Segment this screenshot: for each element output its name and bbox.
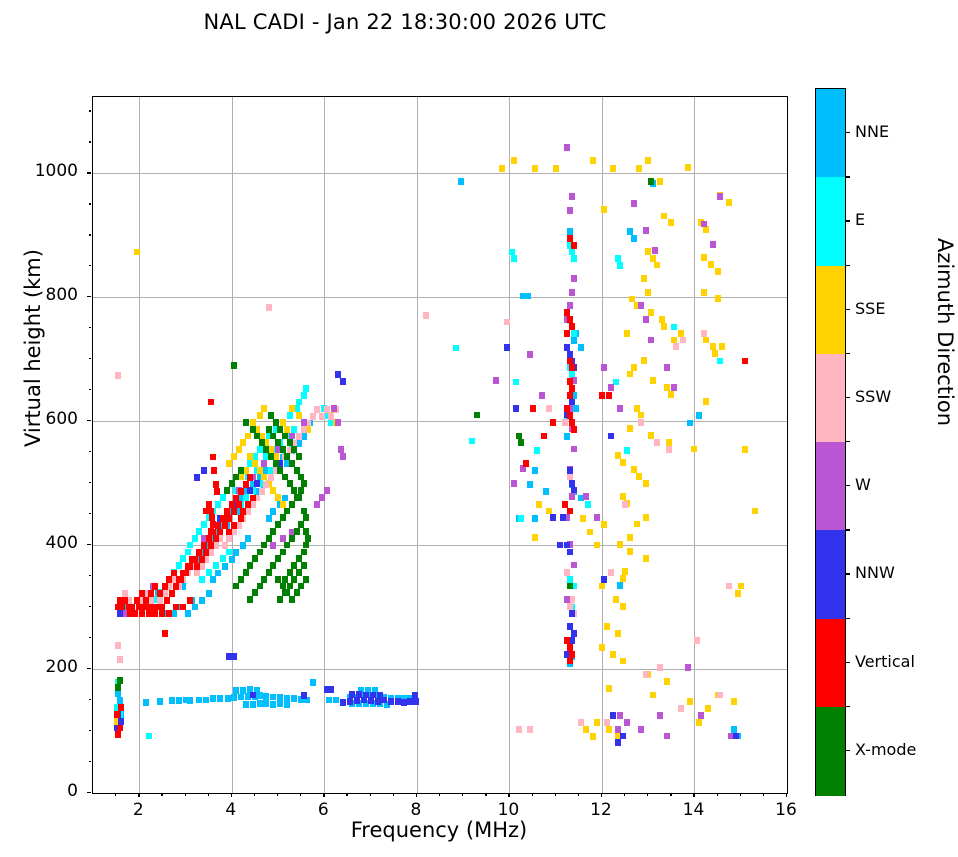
echo-marker-nnw bbox=[340, 699, 346, 706]
echo-marker-e bbox=[215, 501, 221, 508]
echo-marker-ssw bbox=[268, 474, 274, 481]
echo-marker-nnw bbox=[340, 378, 346, 385]
echo-marker-w bbox=[643, 227, 649, 234]
echo-marker-nne bbox=[233, 687, 239, 694]
echo-marker-sse bbox=[708, 261, 714, 268]
x-tick bbox=[508, 793, 509, 797]
y-tick bbox=[87, 296, 91, 297]
echo-marker-x-mode bbox=[247, 596, 253, 603]
echo-marker-sse bbox=[624, 330, 630, 337]
echo-marker-nnw bbox=[377, 692, 383, 699]
echo-marker-sse bbox=[590, 157, 596, 164]
echo-marker-nne bbox=[250, 701, 256, 708]
echo-marker-ssw bbox=[622, 501, 628, 508]
echo-marker-vertical bbox=[569, 323, 575, 330]
echo-marker-ssw bbox=[266, 304, 272, 311]
echo-marker-x-mode bbox=[294, 494, 300, 501]
echo-marker-ssw bbox=[222, 542, 228, 549]
echo-marker-vertical bbox=[569, 651, 575, 658]
echo-marker-w bbox=[564, 596, 570, 603]
echo-marker-vertical bbox=[217, 529, 223, 536]
echo-marker-nnw bbox=[564, 344, 570, 351]
echo-marker-nne bbox=[458, 178, 464, 185]
echo-marker-vertical bbox=[162, 630, 168, 637]
ionogram-figure: NAL CADI - Jan 22 18:30:00 2026 UTC 2468… bbox=[0, 0, 958, 857]
colorbar-tick bbox=[845, 397, 850, 398]
echo-marker-w bbox=[671, 384, 677, 391]
echo-marker-vertical bbox=[606, 392, 612, 399]
x-tick-minor bbox=[277, 793, 278, 796]
echo-marker-vertical bbox=[213, 481, 219, 488]
y-tick-minor bbox=[89, 389, 92, 390]
echo-marker-x-mode bbox=[275, 439, 281, 446]
echo-marker-nne bbox=[210, 695, 216, 702]
echo-marker-ssw bbox=[564, 569, 570, 576]
echo-marker-nne bbox=[270, 694, 276, 701]
echo-marker-nnw bbox=[370, 692, 376, 699]
echo-marker-x-mode bbox=[301, 480, 307, 487]
echo-marker-sse bbox=[613, 596, 619, 603]
echo-marker-x-mode bbox=[294, 467, 300, 474]
colorbar-boundary-tick bbox=[845, 176, 850, 177]
echo-marker-nne bbox=[543, 488, 549, 495]
echo-marker-nnw bbox=[194, 474, 200, 481]
colorbar-boundary-tick bbox=[845, 529, 850, 530]
echo-marker-sse bbox=[599, 583, 605, 590]
echo-marker-x-mode bbox=[270, 433, 276, 440]
echo-marker-nne bbox=[564, 433, 570, 440]
echo-marker-nne bbox=[532, 467, 538, 474]
echo-marker-e bbox=[257, 446, 263, 453]
y-tick-label: 400 bbox=[8, 533, 78, 553]
echo-marker-vertical bbox=[136, 604, 142, 611]
echo-marker-x-mode bbox=[284, 542, 290, 549]
echo-marker-x-mode bbox=[252, 589, 258, 596]
echo-marker-sse bbox=[601, 521, 607, 528]
echo-marker-nne bbox=[617, 582, 623, 589]
echo-marker-w bbox=[511, 480, 517, 487]
echo-marker-nnw bbox=[567, 467, 573, 474]
echo-marker-nnw bbox=[610, 712, 616, 719]
y-tick-minor bbox=[89, 358, 92, 359]
echo-marker-x-mode bbox=[259, 439, 265, 446]
echo-marker-vertical bbox=[567, 658, 573, 665]
echo-marker-sse bbox=[587, 529, 593, 536]
y-tick-minor bbox=[89, 203, 92, 204]
echo-marker-vertical bbox=[243, 481, 249, 488]
echo-marker-sse bbox=[643, 480, 649, 487]
echo-marker-sse bbox=[719, 343, 725, 350]
echo-marker-x-mode bbox=[284, 589, 290, 596]
echo-marker-sse bbox=[668, 391, 674, 398]
echo-marker-nne bbox=[532, 515, 538, 522]
echo-marker-w bbox=[615, 726, 621, 733]
echo-marker-ssw bbox=[638, 419, 644, 426]
echo-marker-x-mode bbox=[263, 446, 269, 453]
echo-marker-sse bbox=[629, 296, 635, 303]
echo-marker-x-mode bbox=[518, 439, 524, 446]
echo-marker-ssw bbox=[578, 719, 584, 726]
echo-marker-w bbox=[301, 419, 307, 426]
echo-marker-sse bbox=[742, 446, 748, 453]
echo-marker-nnw bbox=[564, 542, 570, 549]
echo-marker-sse bbox=[631, 466, 637, 473]
echo-marker-vertical bbox=[139, 590, 145, 597]
echo-marker-nne bbox=[326, 697, 332, 704]
echo-marker-vertical bbox=[569, 364, 575, 371]
echo-marker-w bbox=[685, 664, 691, 671]
y-tick-minor bbox=[89, 327, 92, 328]
echo-marker-nne bbox=[185, 610, 191, 617]
echo-marker-x-mode bbox=[516, 433, 522, 440]
echo-marker-sse bbox=[650, 255, 656, 262]
colorbar-label-x-mode: X-mode bbox=[855, 740, 916, 759]
echo-marker-e bbox=[569, 249, 575, 256]
echo-marker-sse bbox=[594, 719, 600, 726]
echo-marker-sse bbox=[650, 692, 656, 699]
x-tick-label: 12 bbox=[571, 800, 631, 820]
echo-marker-sse bbox=[648, 432, 654, 439]
echo-marker-sse bbox=[664, 384, 670, 391]
echo-marker-e bbox=[226, 549, 232, 556]
echo-marker-sse bbox=[257, 412, 263, 419]
echo-marker-ssw bbox=[657, 664, 663, 671]
echo-marker-ssw bbox=[546, 405, 552, 412]
echo-marker-e bbox=[511, 255, 517, 262]
echo-marker-e bbox=[624, 447, 630, 454]
echo-marker-ssw bbox=[423, 312, 429, 319]
x-tick bbox=[693, 793, 694, 797]
echo-marker-nnw bbox=[328, 686, 334, 693]
echo-marker-e bbox=[534, 447, 540, 454]
echo-marker-sse bbox=[726, 199, 732, 206]
echo-marker-x-mode bbox=[282, 474, 288, 481]
echo-marker-sse bbox=[627, 371, 633, 378]
x-axis-label: Frequency (MHz) bbox=[92, 818, 786, 842]
echo-marker-sse bbox=[627, 425, 633, 432]
echo-marker-sse bbox=[659, 316, 665, 323]
echo-marker-w bbox=[652, 247, 658, 254]
echo-marker-w bbox=[601, 364, 607, 371]
echo-marker-sse bbox=[678, 330, 684, 337]
y-tick-minor bbox=[89, 513, 92, 514]
echo-marker-sse bbox=[691, 446, 697, 453]
y-tick-minor bbox=[89, 451, 92, 452]
colorbar-segment-nne[interactable] bbox=[816, 89, 845, 178]
colorbar-segment-x-mode[interactable] bbox=[816, 707, 845, 796]
echo-marker-ssw bbox=[694, 637, 700, 644]
echo-marker-e bbox=[213, 562, 219, 569]
echo-marker-sse bbox=[606, 685, 612, 692]
colorbar-tick bbox=[845, 750, 850, 751]
echo-marker-e bbox=[617, 262, 623, 269]
x-tick-label: 6 bbox=[293, 800, 353, 820]
y-tick-minor bbox=[89, 265, 92, 266]
echo-marker-vertical bbox=[206, 535, 212, 542]
echo-marker-x-mode bbox=[261, 542, 267, 549]
echo-marker-x-mode bbox=[280, 514, 286, 521]
x-tick-minor bbox=[462, 793, 463, 796]
echo-marker-nnw bbox=[117, 610, 123, 617]
echo-marker-nne bbox=[696, 412, 702, 419]
echo-marker-x-mode bbox=[243, 569, 249, 576]
echo-marker-sse bbox=[236, 446, 242, 453]
echo-marker-vertical bbox=[208, 542, 214, 549]
echo-marker-sse bbox=[620, 575, 626, 582]
plot-area bbox=[92, 96, 788, 794]
echo-marker-nnw bbox=[513, 405, 519, 412]
gridline-vertical bbox=[139, 97, 140, 793]
gridline-horizontal bbox=[93, 297, 787, 298]
echo-marker-nne bbox=[263, 700, 269, 707]
echo-marker-w bbox=[319, 494, 325, 501]
echo-marker-nne bbox=[333, 697, 339, 704]
x-tick-minor bbox=[393, 793, 394, 796]
colorbar-segment-nnw[interactable] bbox=[816, 530, 845, 619]
echo-marker-sse bbox=[620, 603, 626, 610]
echo-marker-e bbox=[671, 324, 677, 331]
echo-marker-ssw bbox=[527, 726, 533, 733]
echo-marker-vertical bbox=[226, 515, 232, 522]
echo-marker-sse bbox=[532, 165, 538, 172]
echo-marker-nnw bbox=[608, 433, 614, 440]
echo-marker-sse bbox=[532, 534, 538, 541]
echo-marker-nne bbox=[578, 344, 584, 351]
echo-marker-vertical bbox=[220, 515, 226, 522]
echo-marker-sse bbox=[289, 405, 295, 412]
echo-marker-sse bbox=[247, 453, 253, 460]
echo-marker-x-mode bbox=[243, 419, 249, 426]
echo-marker-sse bbox=[641, 275, 647, 282]
echo-marker-vertical bbox=[224, 508, 230, 515]
echo-marker-sse bbox=[296, 412, 302, 419]
colorbar-boundary-tick bbox=[845, 618, 850, 619]
echo-marker-x-mode bbox=[294, 589, 300, 596]
echo-marker-nne bbox=[192, 604, 198, 611]
echo-marker-sse bbox=[705, 705, 711, 712]
echo-marker-x-mode bbox=[287, 583, 293, 590]
x-tick-label: 14 bbox=[663, 800, 723, 820]
x-tick-minor bbox=[439, 793, 440, 796]
echo-marker-w bbox=[638, 726, 644, 733]
echo-marker-vertical bbox=[599, 392, 605, 399]
x-tick-minor bbox=[346, 793, 347, 796]
echo-marker-sse bbox=[620, 658, 626, 665]
echo-marker-w bbox=[617, 712, 623, 719]
x-tick-label: 2 bbox=[108, 800, 168, 820]
echo-marker-sse bbox=[601, 206, 607, 213]
echo-marker-vertical bbox=[226, 529, 232, 536]
echo-marker-sse bbox=[648, 309, 654, 316]
echo-marker-vertical bbox=[238, 488, 244, 495]
echo-marker-w bbox=[643, 316, 649, 323]
echo-marker-x-mode bbox=[305, 535, 311, 542]
echo-marker-x-mode bbox=[266, 569, 272, 576]
echo-marker-e bbox=[291, 426, 297, 433]
echo-marker-w bbox=[583, 493, 589, 500]
y-tick-label: 1000 bbox=[8, 161, 78, 181]
echo-marker-nnw bbox=[733, 733, 739, 740]
echo-marker-e bbox=[176, 562, 182, 569]
echo-marker-sse bbox=[701, 289, 707, 296]
echo-marker-x-mode bbox=[268, 412, 274, 419]
echo-marker-vertical bbox=[146, 610, 152, 617]
echo-marker-nnw bbox=[250, 692, 256, 699]
echo-marker-nne bbox=[240, 542, 246, 549]
echo-marker-nne bbox=[238, 694, 244, 701]
echo-marker-vertical bbox=[203, 508, 209, 515]
echo-marker-ssw bbox=[562, 419, 568, 426]
echo-marker-vertical bbox=[115, 731, 121, 738]
echo-marker-vertical bbox=[238, 515, 244, 522]
echo-marker-x-mode bbox=[303, 514, 309, 521]
echo-marker-x-mode bbox=[294, 528, 300, 535]
echo-marker-ssw bbox=[678, 705, 684, 712]
echo-marker-sse bbox=[643, 555, 649, 562]
echo-marker-w bbox=[527, 351, 533, 358]
echo-marker-w bbox=[631, 200, 637, 207]
echo-marker-vertical bbox=[231, 508, 237, 515]
x-tick bbox=[231, 793, 232, 797]
echo-marker-nne bbox=[270, 701, 276, 708]
x-tick-minor bbox=[254, 793, 255, 796]
colorbar-title: Azimuth Direction bbox=[933, 172, 957, 492]
echo-marker-vertical bbox=[201, 542, 207, 549]
echo-marker-nnw bbox=[247, 487, 253, 494]
echo-marker-x-mode bbox=[282, 576, 288, 583]
echo-marker-vertical bbox=[523, 460, 529, 467]
y-tick-minor bbox=[89, 110, 92, 111]
y-tick bbox=[87, 792, 91, 793]
echo-marker-nnw bbox=[349, 691, 355, 698]
echo-marker-x-mode bbox=[291, 446, 297, 453]
echo-marker-x-mode bbox=[289, 535, 295, 542]
y-tick-minor bbox=[89, 482, 92, 483]
echo-marker-w bbox=[569, 193, 575, 200]
echo-marker-nne bbox=[217, 695, 223, 702]
echo-marker-e bbox=[303, 385, 309, 392]
colorbar-tick bbox=[845, 309, 850, 310]
echo-marker-w bbox=[617, 405, 623, 412]
x-tick-minor bbox=[532, 793, 533, 796]
echo-marker-nne bbox=[527, 481, 533, 488]
echo-marker-nne bbox=[143, 699, 149, 706]
echo-marker-ssw bbox=[504, 319, 510, 326]
echo-marker-nnw bbox=[569, 610, 575, 617]
echo-marker-x-mode bbox=[277, 467, 283, 474]
echo-marker-sse bbox=[553, 165, 559, 172]
colorbar-segment-ssw[interactable] bbox=[816, 354, 845, 443]
echo-marker-nnw bbox=[567, 549, 573, 556]
echo-marker-sse bbox=[645, 289, 651, 296]
echo-marker-w bbox=[314, 501, 320, 508]
echo-marker-vertical bbox=[541, 433, 547, 440]
echo-marker-w bbox=[701, 221, 707, 228]
echo-marker-nnw bbox=[118, 718, 124, 725]
colorbar-segment-vertical[interactable] bbox=[816, 619, 845, 708]
echo-marker-nnw bbox=[356, 691, 362, 698]
echo-marker-w bbox=[710, 241, 716, 248]
echo-marker-vertical bbox=[236, 501, 242, 508]
echo-marker-vertical bbox=[245, 501, 251, 508]
echo-marker-w bbox=[569, 289, 575, 296]
y-tick-label: 200 bbox=[8, 657, 78, 677]
echo-marker-x-mode bbox=[298, 521, 304, 528]
echo-marker-vertical bbox=[173, 583, 179, 590]
echo-marker-sse bbox=[668, 219, 674, 226]
echo-marker-ssw bbox=[296, 433, 302, 440]
echo-marker-x-mode bbox=[250, 426, 256, 433]
colorbar-segment-sse[interactable] bbox=[816, 266, 845, 355]
echo-marker-ssw bbox=[666, 446, 672, 453]
echo-marker-x-mode bbox=[280, 446, 286, 453]
echo-marker-vertical bbox=[233, 495, 239, 502]
echo-marker-vertical bbox=[742, 358, 748, 365]
y-tick bbox=[87, 668, 91, 669]
x-tick bbox=[416, 793, 417, 797]
echo-marker-sse bbox=[671, 337, 677, 344]
x-tick-label: 4 bbox=[201, 800, 261, 820]
echo-marker-w bbox=[569, 493, 575, 500]
echo-marker-e bbox=[220, 494, 226, 501]
echo-marker-vertical bbox=[571, 426, 577, 433]
echo-marker-sse bbox=[687, 698, 693, 705]
colorbar-label-ssw: SSW bbox=[855, 387, 891, 406]
x-tick bbox=[323, 793, 324, 797]
echo-marker-vertical bbox=[229, 501, 235, 508]
echo-marker-x-mode bbox=[252, 555, 258, 562]
echo-marker-sse bbox=[627, 548, 633, 555]
echo-marker-sse bbox=[610, 165, 616, 172]
echo-marker-e bbox=[469, 438, 475, 445]
gridline-horizontal bbox=[93, 545, 787, 546]
colorbar bbox=[815, 88, 846, 796]
echo-marker-sse bbox=[617, 541, 623, 548]
echo-marker-nne bbox=[210, 576, 216, 583]
echo-marker-e bbox=[192, 535, 198, 542]
echo-marker-ssw bbox=[194, 570, 200, 577]
echo-marker-w bbox=[564, 144, 570, 151]
echo-marker-nne bbox=[222, 563, 228, 570]
echo-marker-nnw bbox=[201, 467, 207, 474]
colorbar-segment-w[interactable] bbox=[816, 442, 845, 531]
echo-marker-sse bbox=[499, 165, 505, 172]
echo-marker-w bbox=[571, 446, 577, 453]
echo-marker-nne bbox=[263, 693, 269, 700]
colorbar-segment-e[interactable] bbox=[816, 177, 845, 266]
echo-marker-nnw bbox=[254, 480, 260, 487]
echo-marker-sse bbox=[636, 165, 642, 172]
echo-marker-w bbox=[338, 446, 344, 453]
echo-marker-nnw bbox=[354, 697, 360, 704]
echo-marker-e bbox=[196, 528, 202, 535]
echo-marker-vertical bbox=[569, 385, 575, 392]
echo-marker-vertical bbox=[162, 583, 168, 590]
y-tick bbox=[87, 420, 91, 421]
echo-marker-sse bbox=[738, 583, 744, 590]
echo-marker-x-mode bbox=[238, 576, 244, 583]
echo-marker-vertical bbox=[567, 644, 573, 651]
echo-marker-sse bbox=[641, 357, 647, 364]
echo-marker-x-mode bbox=[233, 474, 239, 481]
echo-marker-vertical bbox=[208, 399, 214, 406]
echo-marker-vertical bbox=[132, 610, 138, 617]
echo-marker-e bbox=[567, 576, 573, 583]
echo-marker-nnw bbox=[231, 653, 237, 660]
echo-marker-x-mode bbox=[648, 178, 654, 185]
echo-marker-nne bbox=[631, 235, 637, 242]
echo-marker-nnw bbox=[504, 344, 510, 351]
